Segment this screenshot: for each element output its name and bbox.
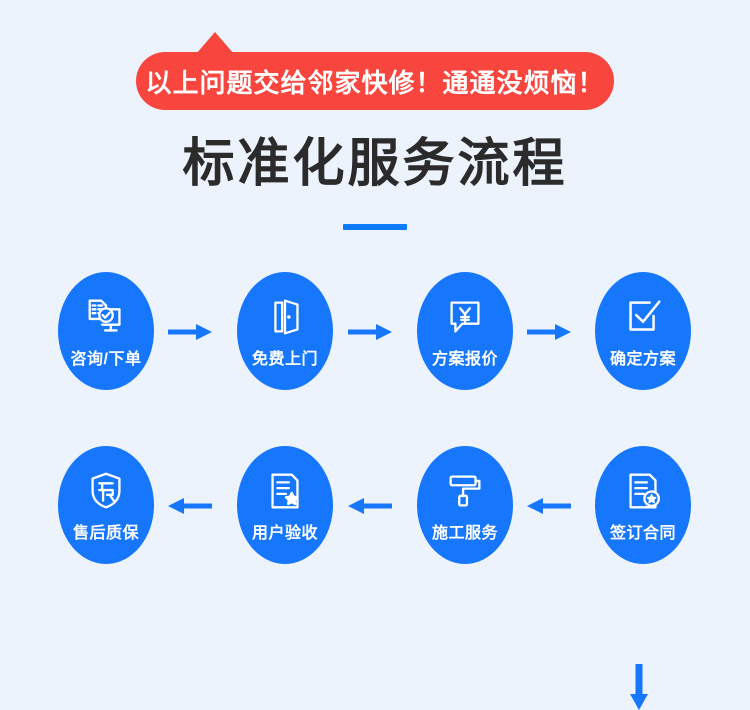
document-star-icon — [262, 468, 308, 514]
banner-text: 以上问题交给邻家快修！通通没烦恼！ — [145, 63, 604, 100]
open-door-icon — [262, 294, 308, 340]
arrow-left-icon — [168, 498, 212, 514]
flow-step-user-acceptance[interactable]: 用户验收 — [237, 446, 333, 564]
arrow-right-icon — [168, 324, 212, 340]
banner-pill: 以上问题交给邻家快修！通通没烦恼！ — [136, 52, 614, 110]
speech-bubble-yuan-icon — [442, 294, 488, 340]
flow-row-2: 售后质保 用户验收 — [0, 446, 750, 564]
callout-banner: 以上问题交给邻家快修！通通没烦恼！ — [0, 32, 750, 112]
flow-step-construction-service[interactable]: 施工服务 — [417, 446, 513, 564]
flow-step-quotation[interactable]: 方案报价 — [417, 272, 513, 390]
flow-step-label: 咨询/下单 — [71, 345, 142, 369]
flow-step-label: 免费上门 — [252, 345, 318, 369]
title-underline-accent — [343, 224, 407, 230]
flow-step-label: 用户验收 — [252, 519, 318, 543]
paint-roller-icon — [442, 468, 488, 514]
flow-step-label: 方案报价 — [432, 345, 498, 369]
flow-step-confirm-plan[interactable]: 确定方案 — [595, 272, 691, 390]
flow-step-label: 确定方案 — [610, 345, 676, 369]
flow-step-free-visit[interactable]: 免费上门 — [237, 272, 333, 390]
arrow-right-icon — [527, 324, 571, 340]
page-title: 标准化服务流程 — [0, 130, 750, 198]
arrow-left-icon — [527, 498, 571, 514]
flow-step-label: 签订合同 — [610, 519, 676, 543]
document-monitor-check-icon — [83, 294, 129, 340]
service-flow-diagram: 咨询/下单 免费上门 — [0, 272, 750, 564]
arrow-left-icon — [348, 498, 392, 514]
flow-step-label: 售后质保 — [73, 519, 139, 543]
arrow-down-icon — [630, 664, 648, 710]
flow-step-sign-contract[interactable]: 签订合同 — [595, 446, 691, 564]
flow-step-after-sales-warranty[interactable]: 售后质保 — [58, 446, 154, 564]
page-title-block: 标准化服务流程 — [0, 130, 750, 230]
flow-row-1: 咨询/下单 免费上门 — [0, 272, 750, 390]
banner-pointer-triangle — [196, 32, 234, 54]
checkbox-check-icon — [620, 294, 666, 340]
flow-step-consult-order[interactable]: 咨询/下单 — [58, 272, 154, 390]
document-seal-icon — [620, 468, 666, 514]
flow-step-label: 施工服务 — [432, 519, 498, 543]
arrow-right-icon — [348, 324, 392, 340]
shield-warranty-icon — [83, 468, 129, 514]
